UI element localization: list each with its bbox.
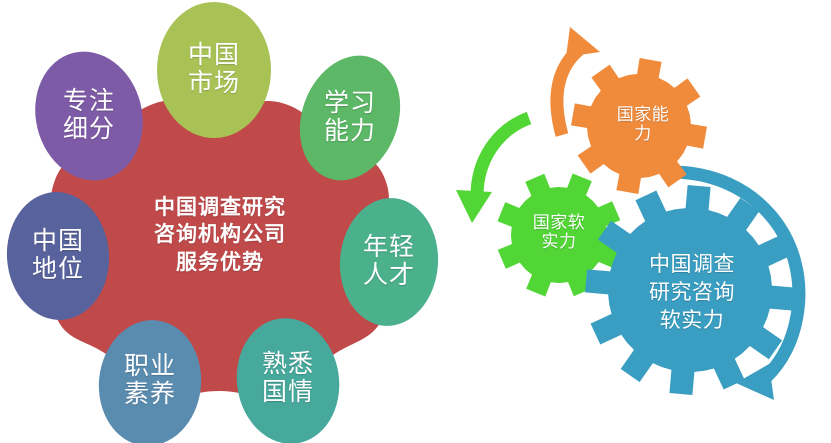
petal-wheel-group <box>3 2 443 443</box>
diagram-canvas <box>0 0 831 443</box>
gear-chain-group <box>498 58 795 395</box>
petal-china-market[interactable] <box>157 2 271 138</box>
green-down-arrow-icon <box>456 118 529 223</box>
